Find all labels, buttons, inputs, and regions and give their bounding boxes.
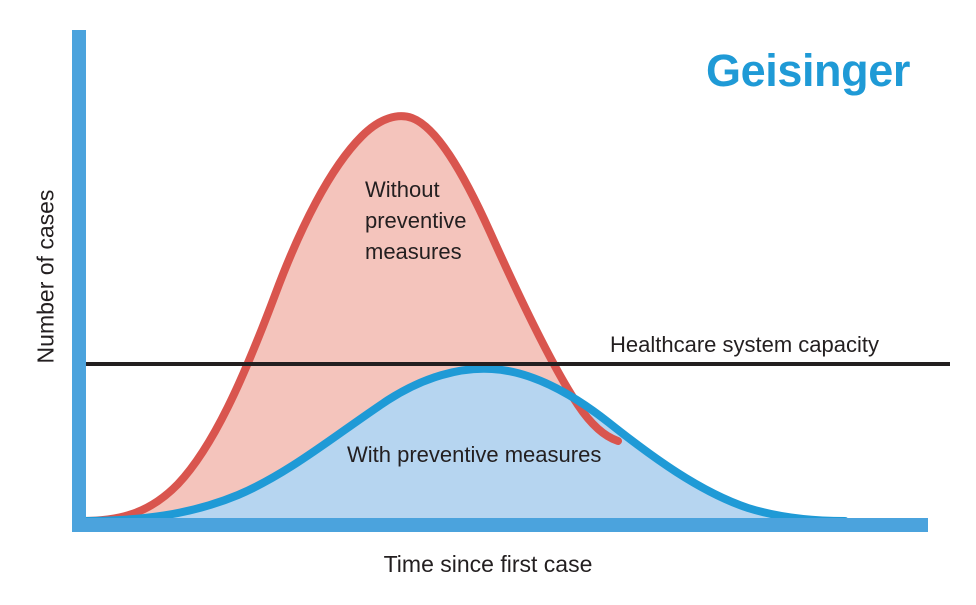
annotation-healthcare-system-capacity: Healthcare system capacity bbox=[610, 331, 879, 360]
x-axis-label: Time since first case bbox=[0, 551, 976, 578]
y-axis-label: Number of cases bbox=[33, 147, 60, 407]
flatten-the-curve-figure: Geisinger Without preventive measures Wi… bbox=[0, 0, 976, 605]
geisinger-logo-wordmark: Geisinger bbox=[706, 47, 910, 94]
annotation-without-preventive-measures: Without preventive measures bbox=[365, 174, 467, 268]
annotation-with-preventive-measures: With preventive measures bbox=[347, 441, 601, 470]
